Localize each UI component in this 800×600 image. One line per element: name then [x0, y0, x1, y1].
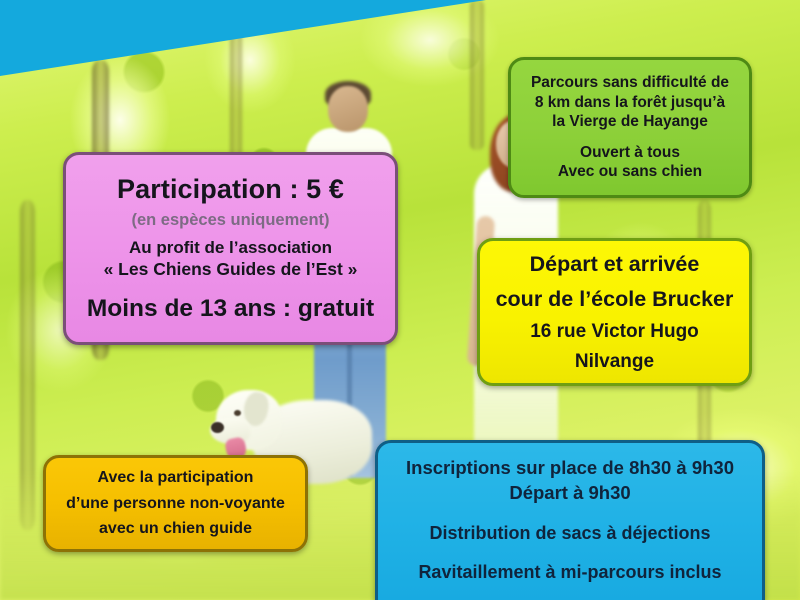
- dog-nose: [211, 422, 224, 433]
- depart-arrivee-info-box: Départ et arrivée cour de l’école Brucke…: [477, 238, 752, 386]
- inscriptions-depart-time: Départ à 9h30: [509, 482, 630, 505]
- non-voyante-line-2: d’une personne non-voyante: [66, 494, 285, 514]
- parcours-line-1: Parcours sans difficulté de: [531, 73, 729, 92]
- inscriptions-info-box: Inscriptions sur place de 8h30 à 9h30 Dé…: [375, 440, 765, 600]
- participation-subtitle: (en espèces uniquement): [131, 210, 329, 230]
- depart-arrivee-street: 16 rue Victor Hugo: [530, 320, 699, 344]
- parcours-info-box: Parcours sans difficulté de 8 km dans la…: [508, 57, 752, 198]
- non-voyante-line-1: Avec la participation: [98, 468, 254, 488]
- parcours-line-5: Avec ou sans chien: [558, 162, 702, 181]
- parcours-line-3: la Vierge de Hayange: [552, 112, 708, 131]
- participation-free-under-13: Moins de 13 ans : gratuit: [87, 294, 374, 324]
- non-voyante-line-3: avec un chien guide: [99, 519, 252, 539]
- participation-info-box: Participation : 5 € (en espèces uniqueme…: [63, 152, 398, 345]
- inscriptions-refreshment: Ravitaillement à mi-parcours inclus: [418, 561, 721, 583]
- depart-arrivee-venue: cour de l’école Brucker: [496, 286, 734, 313]
- participation-title: Participation : 5 €: [117, 173, 344, 206]
- poster-canvas: Parcours sans difficulté de 8 km dans la…: [0, 0, 800, 600]
- inscriptions-hours: Inscriptions sur place de 8h30 à 9h30: [406, 457, 734, 480]
- parcours-line-4: Ouvert à tous: [580, 143, 680, 162]
- depart-arrivee-city: Nilvange: [575, 350, 654, 374]
- depart-arrivee-heading: Départ et arrivée: [530, 251, 700, 278]
- man-head: [328, 86, 368, 132]
- parcours-line-2: 8 km dans la forêt jusqu’à: [535, 93, 725, 112]
- non-voyante-info-box: Avec la participation d’une personne non…: [43, 455, 308, 552]
- dog-eye: [234, 410, 241, 416]
- inscriptions-bags: Distribution de sacs à déjections: [429, 522, 710, 544]
- participation-association-name: « Les Chiens Guides de l’Est »: [104, 259, 358, 281]
- participation-association-line: Au profit de l’association: [129, 237, 332, 258]
